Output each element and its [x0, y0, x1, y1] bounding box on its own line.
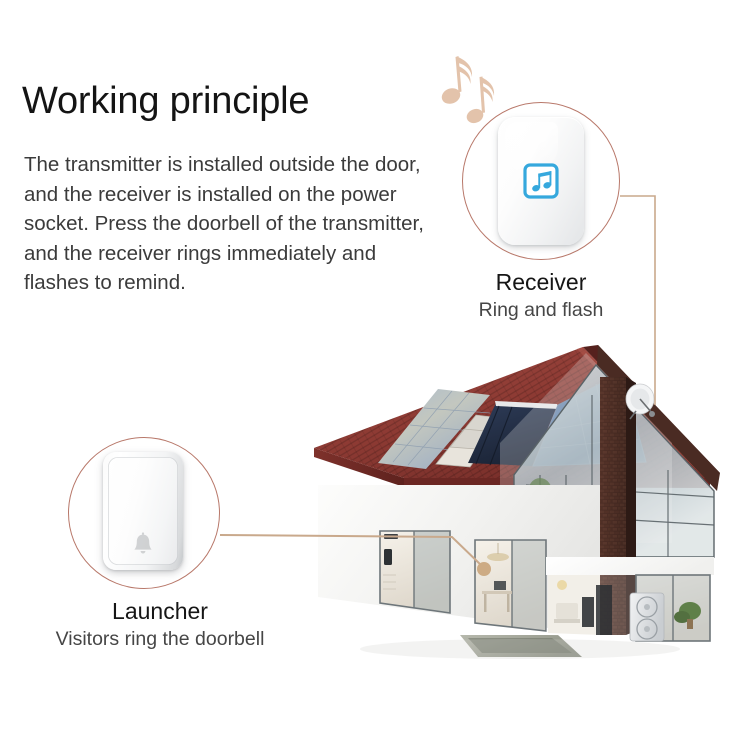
page-description: The transmitter is installed outside the…: [24, 150, 424, 298]
callout-label-receiver: Receiver Ring and flash: [441, 268, 641, 323]
ac-outdoor-unit: [630, 593, 664, 641]
sliding-door-center: [475, 540, 546, 631]
wall-band-right: [546, 557, 714, 575]
callout-title-receiver: Receiver: [441, 268, 641, 297]
ground-shadow: [360, 639, 680, 659]
house-illustration: [300, 335, 750, 675]
door-panel-device: [384, 549, 392, 565]
sliding-door-left: [380, 531, 450, 613]
callout-subtitle-launcher: Visitors ring the doorbell: [17, 626, 303, 652]
receiver-device[interactable]: [498, 117, 584, 245]
music-notes-icon: [437, 44, 509, 124]
bell-icon: [132, 532, 154, 556]
music-note-icon: [523, 163, 559, 199]
callout-label-launcher: Launcher Visitors ring the doorbell: [17, 597, 303, 652]
working-principle-infographic: Working principle The transmitter is ins…: [0, 0, 750, 750]
page-title: Working principle: [22, 78, 309, 124]
callout-title-launcher: Launcher: [17, 597, 303, 626]
interior-stair: [596, 585, 612, 635]
callout-subtitle-receiver: Ring and flash: [441, 297, 641, 323]
launcher-device[interactable]: [103, 452, 183, 570]
